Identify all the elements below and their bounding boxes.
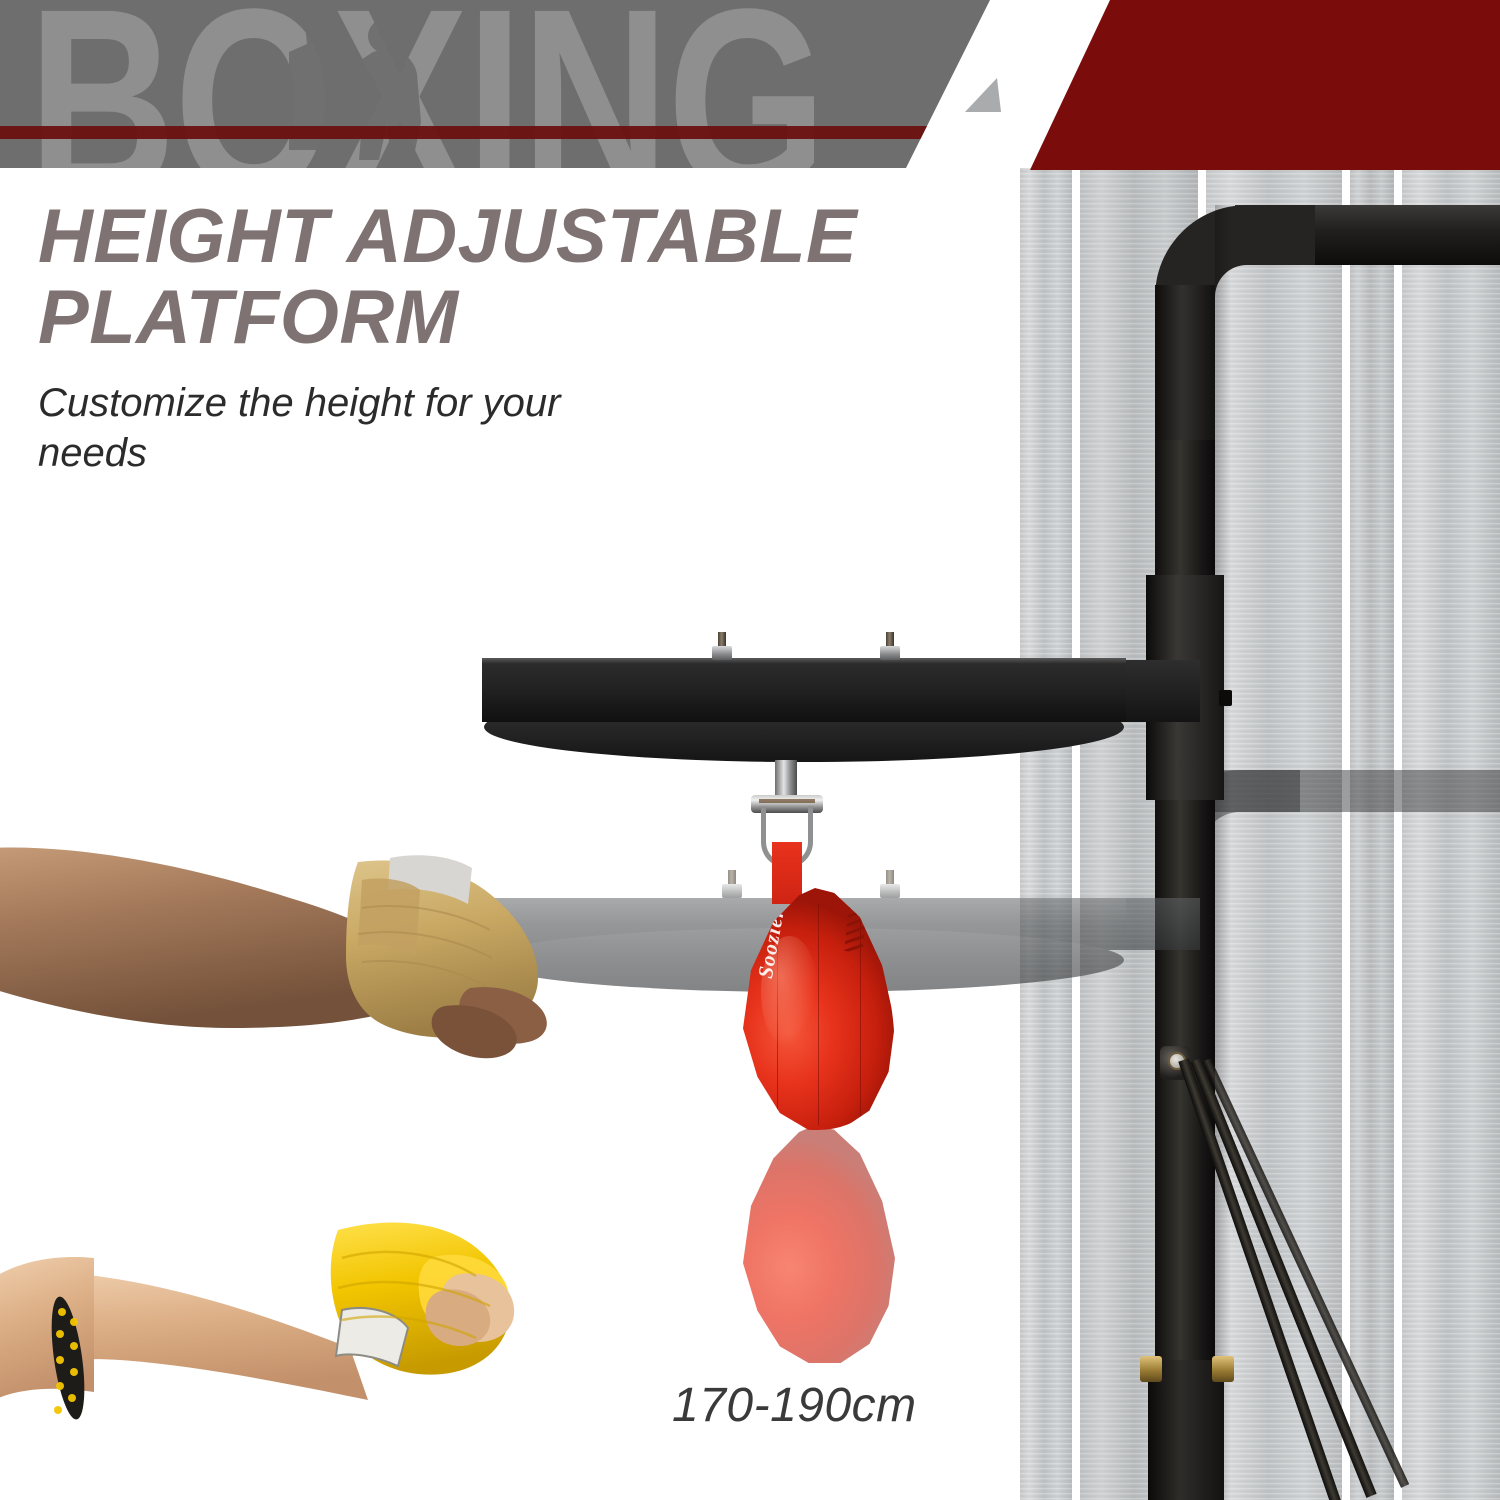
boxer-silhouette-icon — [245, 0, 495, 168]
platform-top-edge — [482, 658, 1126, 664]
platform-rim — [482, 660, 1126, 722]
banner-accent-line — [0, 126, 990, 139]
product-feature-banner: Soozier — [0, 0, 1500, 1500]
speed-bag-strap — [772, 842, 802, 904]
upper-boxer-arm — [0, 838, 630, 1078]
page-title: HEIGHT ADJUSTABLE PLATFORM — [38, 196, 938, 359]
platform-bolt-icon — [880, 632, 900, 662]
banner-gray-triangle — [965, 78, 1001, 112]
platform-bolt-icon — [880, 870, 900, 900]
frame-top-corner — [1155, 205, 1500, 465]
banner-red-block — [1012, 0, 1500, 170]
page-subtitle: Customize the height for your needs — [38, 378, 658, 478]
banner-gray-block: BOXING — [0, 0, 990, 168]
lower-boxer-arm — [0, 1170, 590, 1500]
platform-bolt-icon — [722, 870, 742, 900]
forearm-skin — [0, 848, 382, 1028]
speed-bag-ghost — [735, 1125, 895, 1363]
height-range-caption: 170-190cm — [672, 1378, 917, 1433]
brass-adjust-bolt — [1212, 1356, 1234, 1382]
platform-bolt-icon — [712, 632, 732, 662]
swivel-post-icon — [775, 760, 797, 800]
collar-pin-icon — [1219, 690, 1232, 706]
brass-adjust-bolt — [1140, 1356, 1162, 1382]
